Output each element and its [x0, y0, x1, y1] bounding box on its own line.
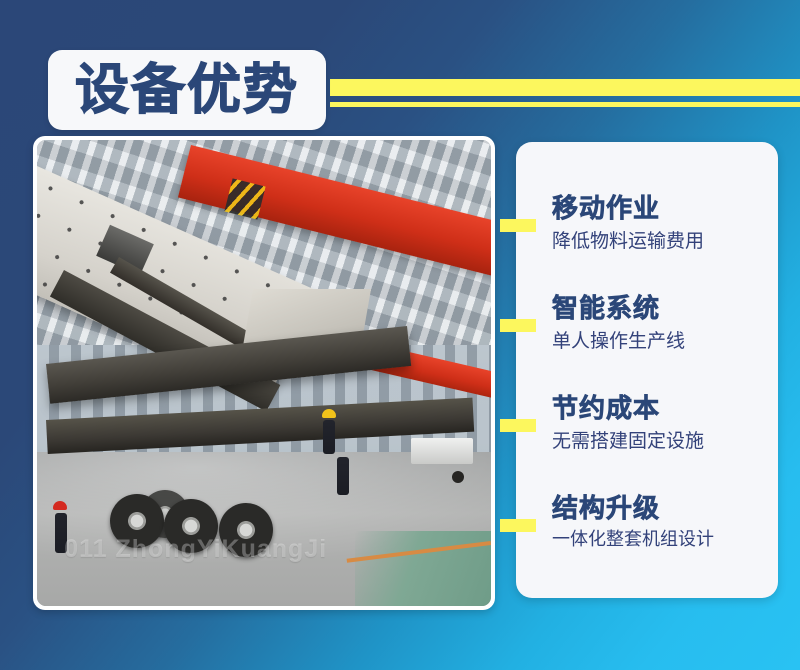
- yellow-dash-icon: [500, 319, 536, 332]
- feature-title: 结构升级: [552, 493, 770, 526]
- yellow-rule-thick: [330, 79, 800, 96]
- yellow-dash-icon: [500, 419, 536, 432]
- feature-title: 节约成本: [552, 393, 770, 426]
- poster-root: 设备优势: [0, 0, 800, 670]
- feature-list: 移动作业 降低物料运输费用 智能系统 单人操作生产线 节约成本 无需搭建固定设施…: [516, 142, 778, 598]
- feature-item-3: 节约成本 无需搭建固定设施: [516, 393, 778, 454]
- photo-wheel: [110, 494, 164, 548]
- page-title: 设备优势: [75, 63, 299, 117]
- product-photo: 011 ZhongYiKuangJi: [37, 140, 491, 606]
- feature-subtitle: 无需搭建固定设施: [552, 428, 770, 455]
- feature-subtitle: 降低物料运输费用: [552, 228, 770, 255]
- product-photo-card: 011 ZhongYiKuangJi: [33, 136, 495, 610]
- feature-item-2: 智能系统 单人操作生产线: [516, 293, 778, 354]
- feature-item-1: 移动作业 降低物料运输费用: [516, 193, 778, 254]
- photo-wheel: [219, 503, 273, 557]
- yellow-rule-thin: [330, 102, 800, 107]
- photo-background-truck-wheel: [452, 471, 464, 483]
- photo-worker-red-helmet: [53, 501, 67, 510]
- feature-title: 智能系统: [552, 293, 770, 326]
- feature-panel: 移动作业 降低物料运输费用 智能系统 单人操作生产线 节约成本 无需搭建固定设施…: [516, 142, 778, 598]
- photo-background-truck: [411, 438, 473, 464]
- feature-title: 移动作业: [552, 193, 770, 226]
- photo-wheel: [164, 499, 218, 553]
- feature-item-4: 结构升级 一体化整套机组设计: [516, 493, 778, 553]
- photo-worker: [55, 513, 67, 553]
- title-plaque: 设备优势: [48, 50, 326, 130]
- feature-subtitle: 一体化整套机组设计: [552, 527, 770, 552]
- yellow-dash-icon: [500, 519, 536, 532]
- yellow-dash-icon: [500, 219, 536, 232]
- photo-worker: [337, 457, 349, 495]
- photo-worker-yellow-helmet: [322, 409, 336, 418]
- feature-subtitle: 单人操作生产线: [552, 328, 770, 355]
- photo-worker: [323, 420, 335, 454]
